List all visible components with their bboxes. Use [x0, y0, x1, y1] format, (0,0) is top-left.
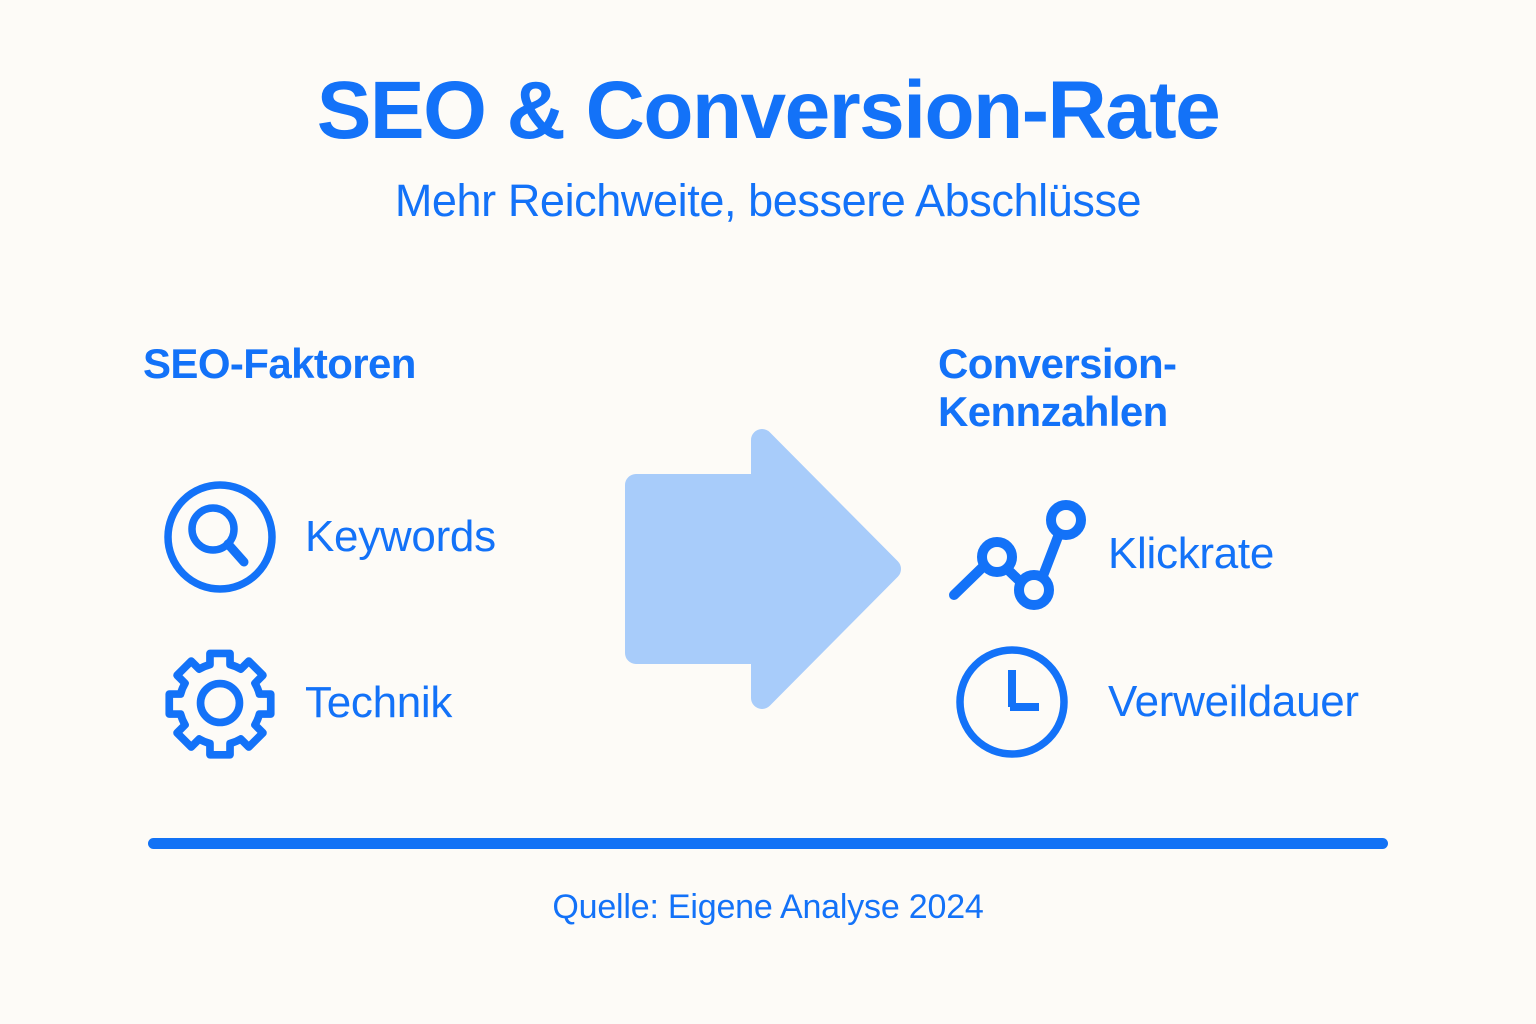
conversion-metrics-heading: Conversion- Kennzahlen — [938, 340, 1458, 437]
list-item-verweildauer[interactable]: Verweildauer — [938, 643, 1458, 761]
list-item-keywords[interactable]: Keywords — [143, 478, 613, 596]
seo-factors-heading: SEO-Faktoren — [143, 340, 613, 388]
line-chart-icon — [942, 495, 1092, 613]
right-arrow-icon — [624, 428, 902, 710]
clock-icon — [942, 643, 1092, 761]
list-item-technik[interactable]: Technik — [143, 644, 613, 762]
source-note: Quelle: Eigene Analyse 2024 — [0, 888, 1536, 927]
list-item-klickrate[interactable]: Klickrate — [938, 495, 1458, 613]
heading-line-2: Kennzahlen — [938, 388, 1168, 435]
seo-factors-list: Keywords Technik — [143, 478, 613, 762]
list-item-label: Verweildauer — [1108, 680, 1359, 724]
heading-line-1: Conversion- — [938, 340, 1176, 387]
conversion-metrics-column: Conversion- Kennzahlen Klickrate — [938, 340, 1458, 761]
header-block: SEO & Conversion-Rate Mehr Reichweite, b… — [0, 70, 1536, 223]
list-item-label: Keywords — [305, 515, 496, 559]
list-item-label: Klickrate — [1108, 532, 1274, 576]
infographic-canvas: SEO & Conversion-Rate Mehr Reichweite, b… — [0, 0, 1536, 1024]
search-icon — [161, 478, 279, 596]
page-subtitle: Mehr Reichweite, bessere Abschlüsse — [0, 178, 1536, 223]
gear-icon — [161, 644, 279, 762]
list-item-label: Technik — [305, 681, 452, 725]
footer-divider — [148, 838, 1388, 849]
conversion-metrics-list: Klickrate Verweildauer — [938, 495, 1458, 761]
page-title: SEO & Conversion-Rate — [0, 70, 1536, 152]
seo-factors-column: SEO-Faktoren Keywords — [143, 340, 613, 762]
